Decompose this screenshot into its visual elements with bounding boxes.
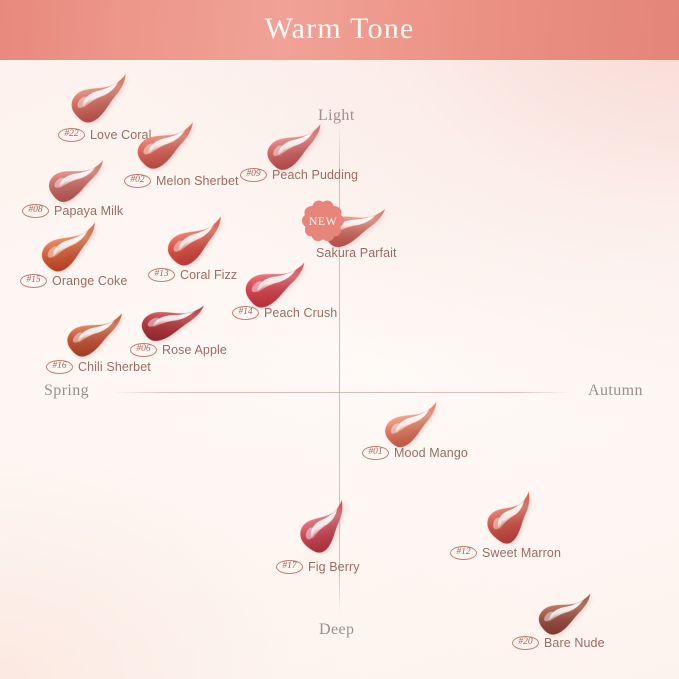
cherry-blossom-icon	[298, 196, 348, 246]
swatch-name-label: Orange Coke	[52, 274, 127, 288]
swatch-name-label: Chili Sherbet	[78, 360, 151, 374]
swatch-number-badge: #22	[58, 128, 85, 142]
swatch-label-orange-coke: #15Orange Coke	[20, 274, 127, 288]
swatch-name-label: Melon Sherbet	[156, 174, 239, 188]
axis-label-autumn: Autumn	[588, 382, 643, 400]
axis-label-spring: Spring	[44, 382, 89, 400]
swatch-name-label: Coral Fizz	[180, 268, 237, 282]
swatch-name-label: Bare Nude	[544, 636, 605, 650]
axis-label-deep: Deep	[319, 621, 354, 639]
swatch-number-badge: #02	[124, 174, 151, 188]
swatch-number-badge: #06	[130, 343, 157, 357]
swatch-label-papaya-milk: #08Papaya Milk	[22, 204, 123, 218]
swatch-label-chili-sherbet: #16Chili Sherbet	[46, 360, 151, 374]
swatch-smear-fig-berry	[284, 491, 367, 571]
swatch-number-badge: #12	[450, 546, 477, 560]
swatch-number-badge: #16	[46, 360, 73, 374]
swatch-label-rose-apple: #06Rose Apple	[130, 343, 227, 357]
warm-tone-shade-chart: Warm Tone Light Deep Spring Autumn #22Lo…	[0, 0, 679, 679]
new-badge: NEW	[298, 196, 348, 246]
swatch-name-label: Mood Mango	[394, 446, 468, 460]
swatch-label-fig-berry: #17Fig Berry	[276, 560, 360, 574]
swatch-label-bare-nude: #20Bare Nude	[512, 636, 605, 650]
swatch-number-badge: #01	[362, 446, 389, 460]
swatch-name-label: Sweet Marron	[482, 546, 561, 560]
swatch-label-sakura-parfait: Sakura Parfait	[316, 246, 397, 260]
swatch-number-badge: #13	[148, 268, 175, 282]
swatch-name-label: Peach Pudding	[272, 168, 358, 182]
axis-label-light: Light	[318, 107, 355, 125]
swatch-label-peach-crush: #14Peach Crush	[232, 306, 337, 320]
swatch-name-label: Sakura Parfait	[316, 246, 397, 260]
page-title: Warm Tone	[265, 14, 415, 46]
swatch-name-label: Fig Berry	[308, 560, 360, 574]
swatch-number-badge: #08	[22, 204, 49, 218]
swatch-number-badge: #14	[232, 306, 259, 320]
swatch-label-sweet-marron: #12Sweet Marron	[450, 546, 561, 560]
swatch-name-label: Rose Apple	[162, 343, 227, 357]
swatch-number-badge: #15	[20, 274, 47, 288]
axis-horizontal-line	[112, 392, 572, 393]
swatch-label-melon-sherbet: #02Melon Sherbet	[124, 174, 239, 188]
swatch-name-label: Peach Crush	[264, 306, 337, 320]
swatch-label-peach-pudding: #09Peach Pudding	[240, 168, 358, 182]
swatch-number-badge: #20	[512, 636, 539, 650]
swatch-label-coral-fizz: #13Coral Fizz	[148, 268, 237, 282]
swatch-label-mood-mango: #01Mood Mango	[362, 446, 468, 460]
page-header: Warm Tone	[0, 0, 679, 60]
swatch-number-badge: #09	[240, 168, 267, 182]
swatch-number-badge: #17	[276, 560, 303, 574]
